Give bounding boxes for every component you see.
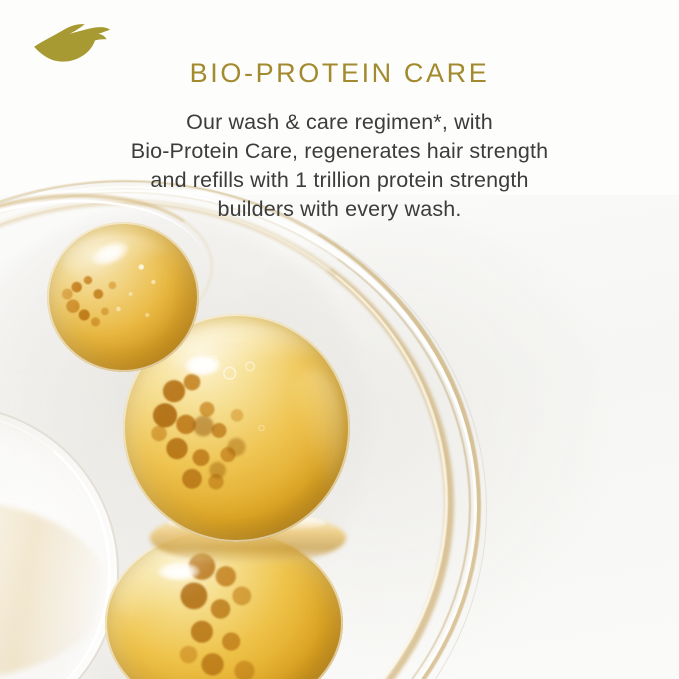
product-feature-panel: BIO-PROTEIN CARE Our wash & care regimen… <box>0 0 679 679</box>
page-title: BIO-PROTEIN CARE <box>0 58 679 89</box>
body-line-1: Our wash & care regimen*, with <box>0 108 679 137</box>
product-imagery <box>0 0 679 679</box>
oil-bubble-top-left <box>47 222 199 372</box>
bubble-rim-light <box>47 222 199 372</box>
body-line-4: builders with every wash. <box>0 195 679 224</box>
body-line-2: Bio-Protein Care, regenerates hair stren… <box>0 137 679 166</box>
body-copy: Our wash & care regimen*, with Bio-Prote… <box>0 108 679 224</box>
body-line-3: and refills with 1 trillion protein stre… <box>0 166 679 195</box>
